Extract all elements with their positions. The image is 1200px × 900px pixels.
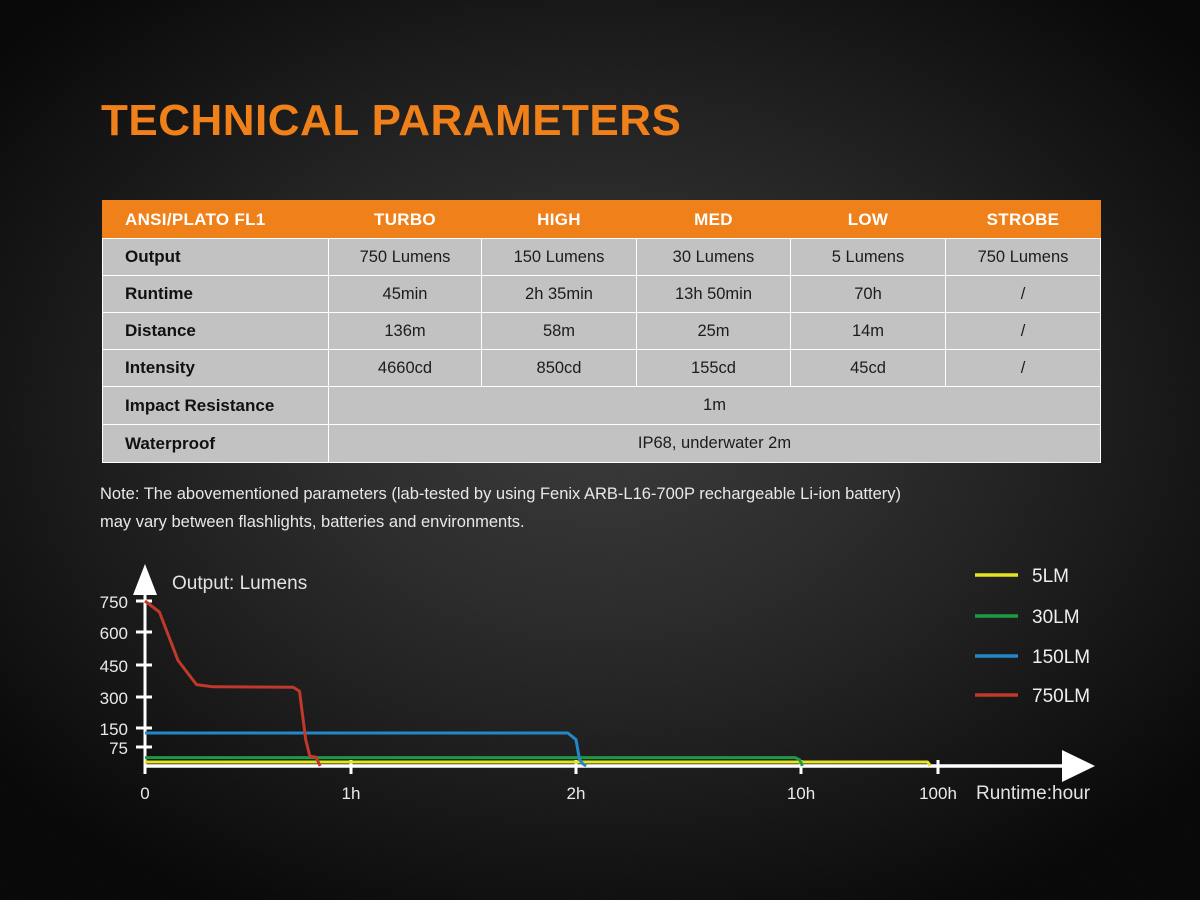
chart-series-group xyxy=(145,601,930,766)
cell-distance-low: 14m xyxy=(791,313,946,350)
cell-distance-med: 25m xyxy=(637,313,791,350)
row-label-distance: Distance xyxy=(103,313,329,350)
cell-waterproof-value: IP68, underwater 2m xyxy=(329,425,1101,463)
note-line-1: Note: The abovementioned parameters (lab… xyxy=(100,480,1110,508)
runtime-chart-svg: 750 600 450 300 150 75 Output: Lumens 0 … xyxy=(0,540,1200,830)
y-axis-title: Output: Lumens xyxy=(172,573,307,594)
xtick-label-1h: 1h xyxy=(342,784,361,803)
cell-distance-strobe: / xyxy=(946,313,1101,350)
note-line-2: may vary between flashlights, batteries … xyxy=(100,508,1110,536)
cell-output-strobe: 750 Lumens xyxy=(946,239,1101,276)
row-label-impact-resistance: Impact Resistance xyxy=(103,387,329,425)
specifications-table: ANSI/PLATO FL1 TURBO HIGH MED LOW STROBE… xyxy=(102,200,1101,463)
cell-runtime-low: 70h xyxy=(791,276,946,313)
cell-distance-turbo: 136m xyxy=(329,313,482,350)
xtick-label-0: 0 xyxy=(140,784,149,803)
table-row: Runtime 45min 2h 35min 13h 50min 70h / xyxy=(103,276,1101,313)
table-body: Output 750 Lumens 150 Lumens 30 Lumens 5… xyxy=(103,239,1101,463)
table-header-row: ANSI/PLATO FL1 TURBO HIGH MED LOW STROBE xyxy=(103,201,1101,239)
cell-intensity-strobe: / xyxy=(946,350,1101,387)
cell-output-high: 150 Lumens xyxy=(482,239,637,276)
ytick-label-450: 450 xyxy=(100,657,128,676)
table-row: Impact Resistance 1m xyxy=(103,387,1101,425)
row-label-intensity: Intensity xyxy=(103,350,329,387)
legend-label-150lm: 150LM xyxy=(1032,647,1090,668)
ytick-label-150: 150 xyxy=(100,720,128,739)
cell-runtime-turbo: 45min xyxy=(329,276,482,313)
cell-output-low: 5 Lumens xyxy=(791,239,946,276)
cell-runtime-high: 2h 35min xyxy=(482,276,637,313)
cell-intensity-high: 850cd xyxy=(482,350,637,387)
x-axis-title: Runtime:hour xyxy=(976,783,1091,804)
x-axis xyxy=(145,750,1095,782)
xtick-label-2h: 2h xyxy=(567,784,586,803)
row-label-runtime: Runtime xyxy=(103,276,329,313)
table-row: Waterproof IP68, underwater 2m xyxy=(103,425,1101,463)
cell-impact-resistance-value: 1m xyxy=(329,387,1101,425)
cell-output-med: 30 Lumens xyxy=(637,239,791,276)
series-line-750lm xyxy=(145,601,320,766)
column-header-strobe: STROBE xyxy=(946,201,1101,239)
ytick-label-750: 750 xyxy=(100,593,128,612)
cell-intensity-med: 155cd xyxy=(637,350,791,387)
table-row: Output 750 Lumens 150 Lumens 30 Lumens 5… xyxy=(103,239,1101,276)
legend-label-30lm: 30LM xyxy=(1032,607,1080,628)
table-row: Intensity 4660cd 850cd 155cd 45cd / xyxy=(103,350,1101,387)
ytick-label-600: 600 xyxy=(100,624,128,643)
column-header-ansi: ANSI/PLATO FL1 xyxy=(103,201,329,239)
slide-root: TECHNICAL PARAMETERS ANSI/PLATO FL1 TURB… xyxy=(0,0,1200,900)
cell-distance-high: 58m xyxy=(482,313,637,350)
legend-label-5lm: 5LM xyxy=(1032,566,1069,587)
cell-runtime-med: 13h 50min xyxy=(637,276,791,313)
column-header-low: LOW xyxy=(791,201,946,239)
note-block: Note: The abovementioned parameters (lab… xyxy=(100,480,1110,536)
ytick-label-300: 300 xyxy=(100,689,128,708)
table-row: Distance 136m 58m 25m 14m / xyxy=(103,313,1101,350)
cell-runtime-strobe: / xyxy=(946,276,1101,313)
runtime-chart: 750 600 450 300 150 75 Output: Lumens 0 … xyxy=(0,540,1200,830)
cell-intensity-turbo: 4660cd xyxy=(329,350,482,387)
column-header-med: MED xyxy=(637,201,791,239)
page-title: TECHNICAL PARAMETERS xyxy=(101,96,681,146)
cell-output-turbo: 750 Lumens xyxy=(329,239,482,276)
ytick-label-75: 75 xyxy=(109,739,128,758)
chart-legend: 5LM 30LM 150LM 750LM xyxy=(975,566,1090,707)
row-label-waterproof: Waterproof xyxy=(103,425,329,463)
legend-label-750lm: 750LM xyxy=(1032,686,1090,707)
cell-intensity-low: 45cd xyxy=(791,350,946,387)
row-label-output: Output xyxy=(103,239,329,276)
column-header-high: HIGH xyxy=(482,201,637,239)
xtick-label-10h: 10h xyxy=(787,784,815,803)
xtick-label-100h: 100h xyxy=(919,784,957,803)
table-header: ANSI/PLATO FL1 TURBO HIGH MED LOW STROBE xyxy=(103,201,1101,239)
column-header-turbo: TURBO xyxy=(329,201,482,239)
